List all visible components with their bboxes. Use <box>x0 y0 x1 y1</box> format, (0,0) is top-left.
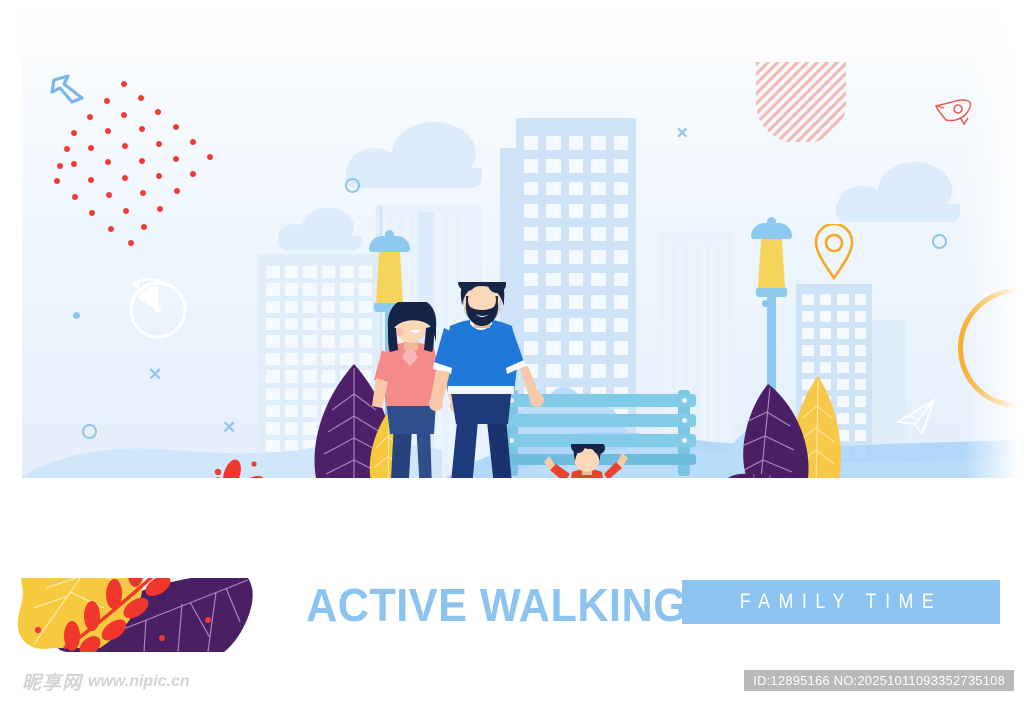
x-mark: ✕ <box>148 366 162 383</box>
small-ring <box>73 312 80 319</box>
family-time-badge[interactable]: FAMILY TIME <box>682 580 1000 624</box>
poster-canvas: ✕ ✕ ✕ ACTIVE WALKING FAMILY TIME 昵享网 www… <box>0 0 1024 716</box>
sky-right-fade <box>964 0 1024 478</box>
watermark-site-cn: 昵享网 <box>22 668 82 695</box>
page-title: ACTIVE WALKING <box>306 578 687 632</box>
small-ring <box>345 178 360 193</box>
watermark-left: 昵享网 www.nipic.cn <box>22 668 190 695</box>
small-ring <box>932 234 947 249</box>
watermark-id: ID:12895166 NO:20251011093352735108 <box>744 670 1014 691</box>
small-ring <box>762 300 769 307</box>
x-mark: ✕ <box>676 126 689 141</box>
ground <box>0 478 1024 578</box>
x-mark: ✕ <box>222 419 236 436</box>
family-time-badge-label: FAMILY TIME <box>706 580 976 624</box>
small-ring <box>82 424 97 439</box>
watermark-site-url: www.nipic.cn <box>88 673 190 691</box>
